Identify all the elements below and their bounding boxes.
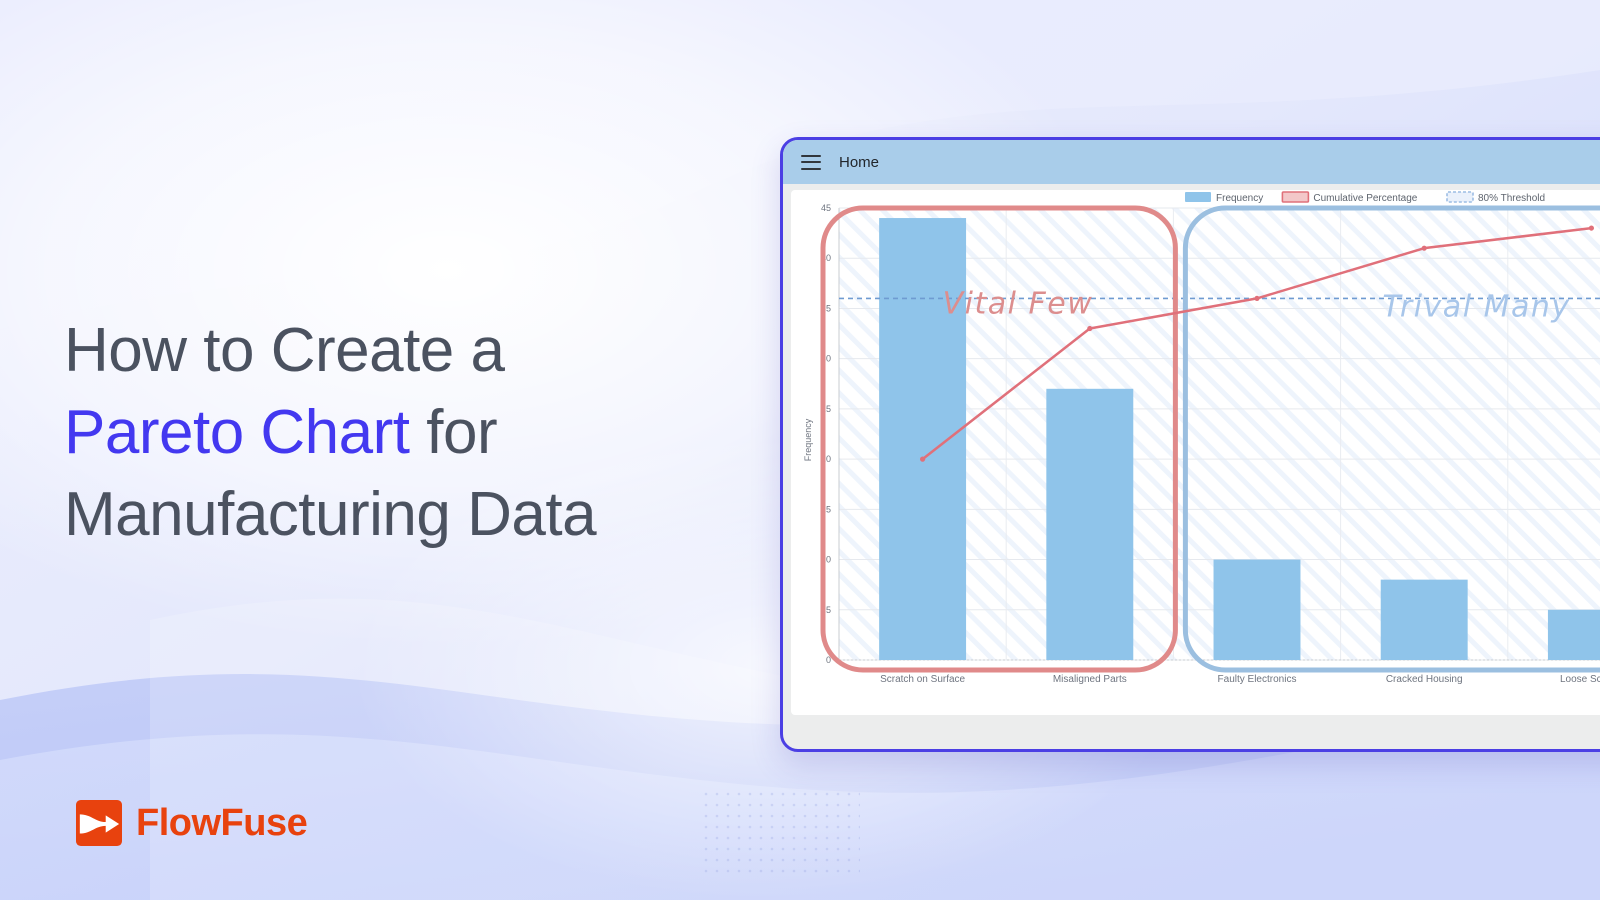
pareto-chart[interactable]: 051015202530354045 Vital Few Trival Many bbox=[791, 190, 1600, 715]
x-axis-category-labels: Scratch on SurfaceMisaligned PartsFaulty… bbox=[880, 674, 1600, 685]
background-dot-pattern bbox=[700, 790, 860, 880]
y-tick-label: 5 bbox=[826, 605, 831, 615]
cumulative-point bbox=[1589, 225, 1594, 230]
hero-line-1: How to Create a bbox=[64, 310, 764, 392]
hero-heading: How to Create a Pareto Chart for Manufac… bbox=[64, 310, 764, 556]
x-label-faulty-electronics: Faulty Electronics bbox=[1218, 674, 1297, 685]
bar-scratch-on-surface[interactable] bbox=[879, 218, 966, 660]
cumulative-point bbox=[1254, 296, 1259, 301]
brand-name: FlowFuse bbox=[136, 804, 307, 842]
hero-line-2: Pareto Chart for bbox=[64, 392, 764, 474]
app-bar: Home bbox=[783, 140, 1600, 184]
legend-label: 80% Threshold bbox=[1478, 193, 1545, 204]
legend-item-80-threshold[interactable]: 80% Threshold bbox=[1447, 192, 1545, 204]
bar-faulty-electronics[interactable] bbox=[1214, 560, 1301, 660]
dashboard-device-frame: Home 051015202530354045 bbox=[780, 137, 1600, 752]
annotation-trivial-many: Trival Many bbox=[1382, 289, 1570, 324]
app-bar-title: Home bbox=[839, 154, 879, 171]
bar-misaligned-parts[interactable] bbox=[1046, 389, 1133, 660]
bar-loose-screws[interactable] bbox=[1548, 610, 1600, 660]
legend-label: Frequency bbox=[1216, 193, 1263, 204]
hero-line-3: Manufacturing Data bbox=[64, 474, 764, 556]
legend-item-cumulative-percentage[interactable]: Cumulative Percentage bbox=[1282, 192, 1417, 204]
flowfuse-logo-icon bbox=[76, 800, 122, 846]
legend-label: Cumulative Percentage bbox=[1313, 193, 1417, 204]
device-shell: Home 051015202530354045 bbox=[780, 137, 1600, 752]
x-label-scratch-on-surface: Scratch on Surface bbox=[880, 674, 965, 685]
bar-cracked-housing[interactable] bbox=[1381, 580, 1468, 660]
hero-line-2-rest: for bbox=[410, 398, 498, 467]
cumulative-point bbox=[1422, 246, 1427, 251]
x-label-cracked-housing: Cracked Housing bbox=[1386, 674, 1463, 685]
chart-legend[interactable]: FrequencyCumulative Percentage80% Thresh… bbox=[1185, 192, 1545, 204]
brand-logo[interactable]: FlowFuse bbox=[76, 800, 307, 846]
y-axis-title: Frequency bbox=[803, 418, 813, 461]
hamburger-menu-icon[interactable] bbox=[801, 155, 821, 170]
x-label-misaligned-parts: Misaligned Parts bbox=[1053, 674, 1127, 685]
x-label-loose-screws: Loose Screws bbox=[1560, 674, 1600, 685]
legend-item-frequency[interactable]: Frequency bbox=[1185, 192, 1263, 204]
chart-canvas: 051015202530354045 Vital Few Trival Many bbox=[791, 190, 1600, 715]
cumulative-point bbox=[920, 457, 925, 462]
hero-accent-text: Pareto Chart bbox=[64, 398, 410, 467]
annotation-vital-few: Vital Few bbox=[943, 286, 1094, 321]
cumulative-point bbox=[1087, 326, 1092, 331]
y-tick-label: 45 bbox=[821, 203, 831, 213]
